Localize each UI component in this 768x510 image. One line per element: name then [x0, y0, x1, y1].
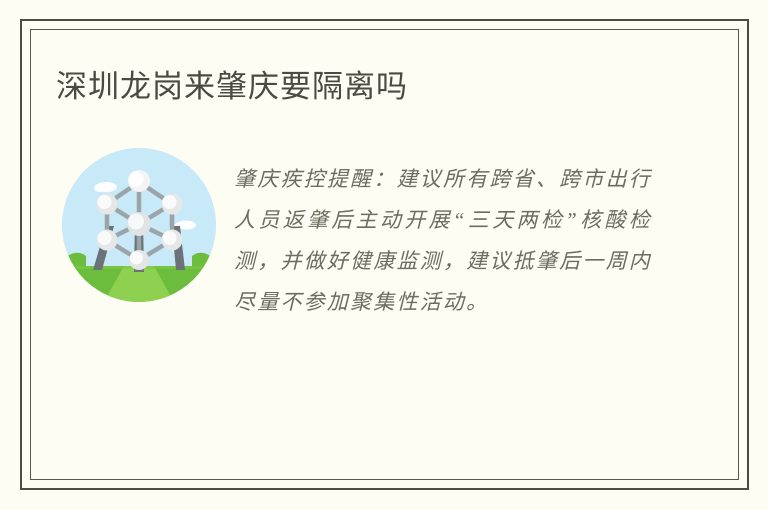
atomium-monument-icon — [62, 148, 216, 302]
article-card: 深圳龙岗来肇庆要隔离吗 — [0, 0, 768, 510]
article-content: 肇庆疾控提醒：建议所有跨省、跨市出行人员返肇后主动开展“三天两检”核酸检测，并做… — [56, 145, 656, 415]
page-title: 深圳龙岗来肇庆要隔离吗 — [56, 64, 696, 110]
article-body: 肇庆疾控提醒：建议所有跨省、跨市出行人员返肇后主动开展“三天两检”核酸检测，并做… — [234, 159, 652, 323]
